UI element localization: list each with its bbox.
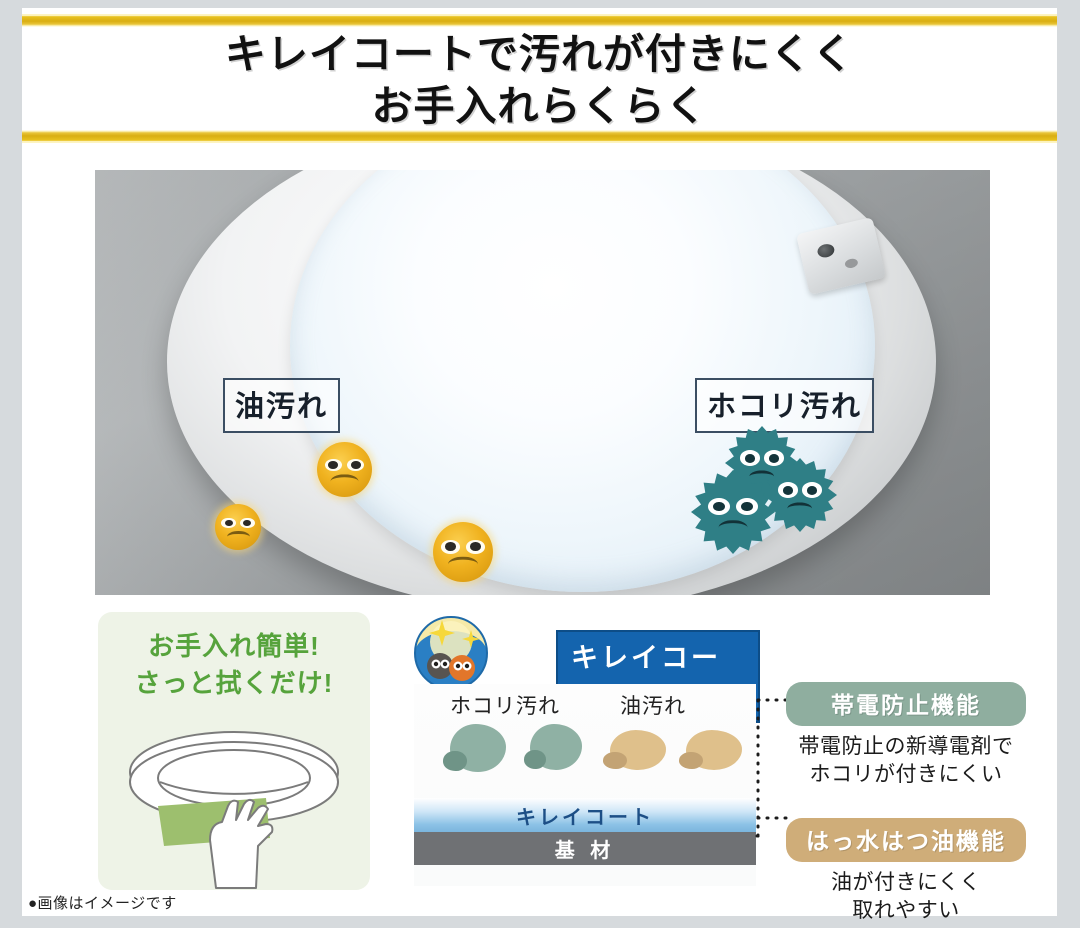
dust-blob-icon: [530, 724, 582, 770]
feature-list: 帯電防止機能 帯電防止の新導電剤で ホコリが付きにくい はっ水はつ油機能 油が付…: [786, 682, 1026, 925]
sad-face-icon: [317, 442, 372, 497]
frown-icon: [331, 474, 359, 488]
title-line-1: キレイコートで汚れが付きにくく: [22, 28, 1057, 80]
sad-face-icon: [433, 522, 493, 582]
wiping-illustration: [98, 720, 370, 890]
feature-desc-repellent: 油が付きにくく 取れやすい: [786, 869, 1026, 926]
layer-kirei-coat: キレイコート: [414, 798, 756, 832]
header-card: キレイコートで汚れが付きにくく お手入れらくらく: [22, 8, 1057, 148]
easy-care-line-2: さっと拭くだけ!: [98, 665, 370, 702]
eye-icon: [466, 540, 485, 554]
dust-monster-icon: [763, 458, 837, 532]
blob-lobe-icon: [679, 752, 703, 769]
product-photo: 油汚れ ホコリ汚れ: [95, 170, 990, 595]
feature-pill-antistatic: 帯電防止機能: [786, 682, 1026, 726]
diagram-label-dust: ホコリ汚れ: [450, 690, 560, 720]
feature-pill-repellent: はっ水はつ油機能: [786, 818, 1026, 862]
frown-icon: [448, 557, 478, 573]
feature-spacer: [786, 790, 1026, 818]
footnote: ●画像はイメージです: [28, 892, 177, 913]
eye-icon: [221, 518, 235, 529]
easy-care-line-1: お手入れ簡単!: [98, 628, 370, 665]
photo-label-oil: 油汚れ: [223, 378, 340, 433]
dust-blob-icon: [450, 724, 506, 772]
feature-desc-line-2: 取れやすい: [786, 897, 1026, 925]
bracket-screw-icon: [844, 258, 859, 270]
easy-care-text: お手入れ簡単! さっと拭くだけ!: [98, 628, 370, 702]
layer-base-material: 基 材: [414, 832, 756, 865]
easy-care-box: お手入れ簡単! さっと拭くだけ!: [98, 612, 370, 890]
oil-blob-icon: [610, 730, 666, 770]
page-title: キレイコートで汚れが付きにくく お手入れらくらく: [22, 28, 1057, 133]
eye-icon: [802, 482, 822, 498]
blob-lobe-icon: [524, 750, 546, 769]
diagram-label-oil: 油汚れ: [620, 690, 686, 720]
blob-lobe-icon: [443, 751, 467, 771]
feature-desc-antistatic: 帯電防止の新導電剤で ホコリが付きにくい: [786, 733, 1026, 790]
sad-face-icon: [215, 504, 261, 550]
gold-divider-top: [22, 14, 1057, 27]
kirei-coat-emblem-icon: [412, 614, 490, 692]
frown-icon: [227, 531, 250, 543]
eye-icon: [441, 540, 460, 554]
feature-item-antistatic: 帯電防止機能 帯電防止の新導電剤で ホコリが付きにくい: [786, 682, 1026, 790]
infographic-root: キレイコートで汚れが付きにくく お手入れらくらく 油汚れ ホコリ汚れ: [0, 0, 1080, 928]
blob-lobe-icon: [603, 752, 627, 769]
feature-desc-line-1: 帯電防止の新導電剤で: [786, 733, 1026, 761]
eye-icon: [325, 459, 342, 472]
bracket-knob-icon: [816, 243, 835, 259]
eye-icon: [778, 482, 798, 498]
feature-desc-line-1: 油が付きにくく: [786, 869, 1026, 897]
eye-icon: [740, 450, 760, 466]
dust-body-icon: [763, 458, 837, 532]
frown-icon: [787, 502, 812, 515]
title-line-2: お手入れらくらく: [22, 80, 1057, 132]
photo-label-dust: ホコリ汚れ: [695, 378, 874, 433]
oil-blob-icon: [686, 730, 742, 770]
feature-desc-line-2: ホコリが付きにくい: [786, 761, 1026, 789]
frown-icon: [719, 520, 748, 535]
eye-icon: [347, 459, 364, 472]
eye-icon: [240, 518, 254, 529]
coat-diagram: キレイコート ホコリ汚れ 油汚れ: [408, 612, 760, 890]
feature-item-repellent: はっ水はつ油機能 油が付きにくく 取れやすい: [786, 818, 1026, 926]
